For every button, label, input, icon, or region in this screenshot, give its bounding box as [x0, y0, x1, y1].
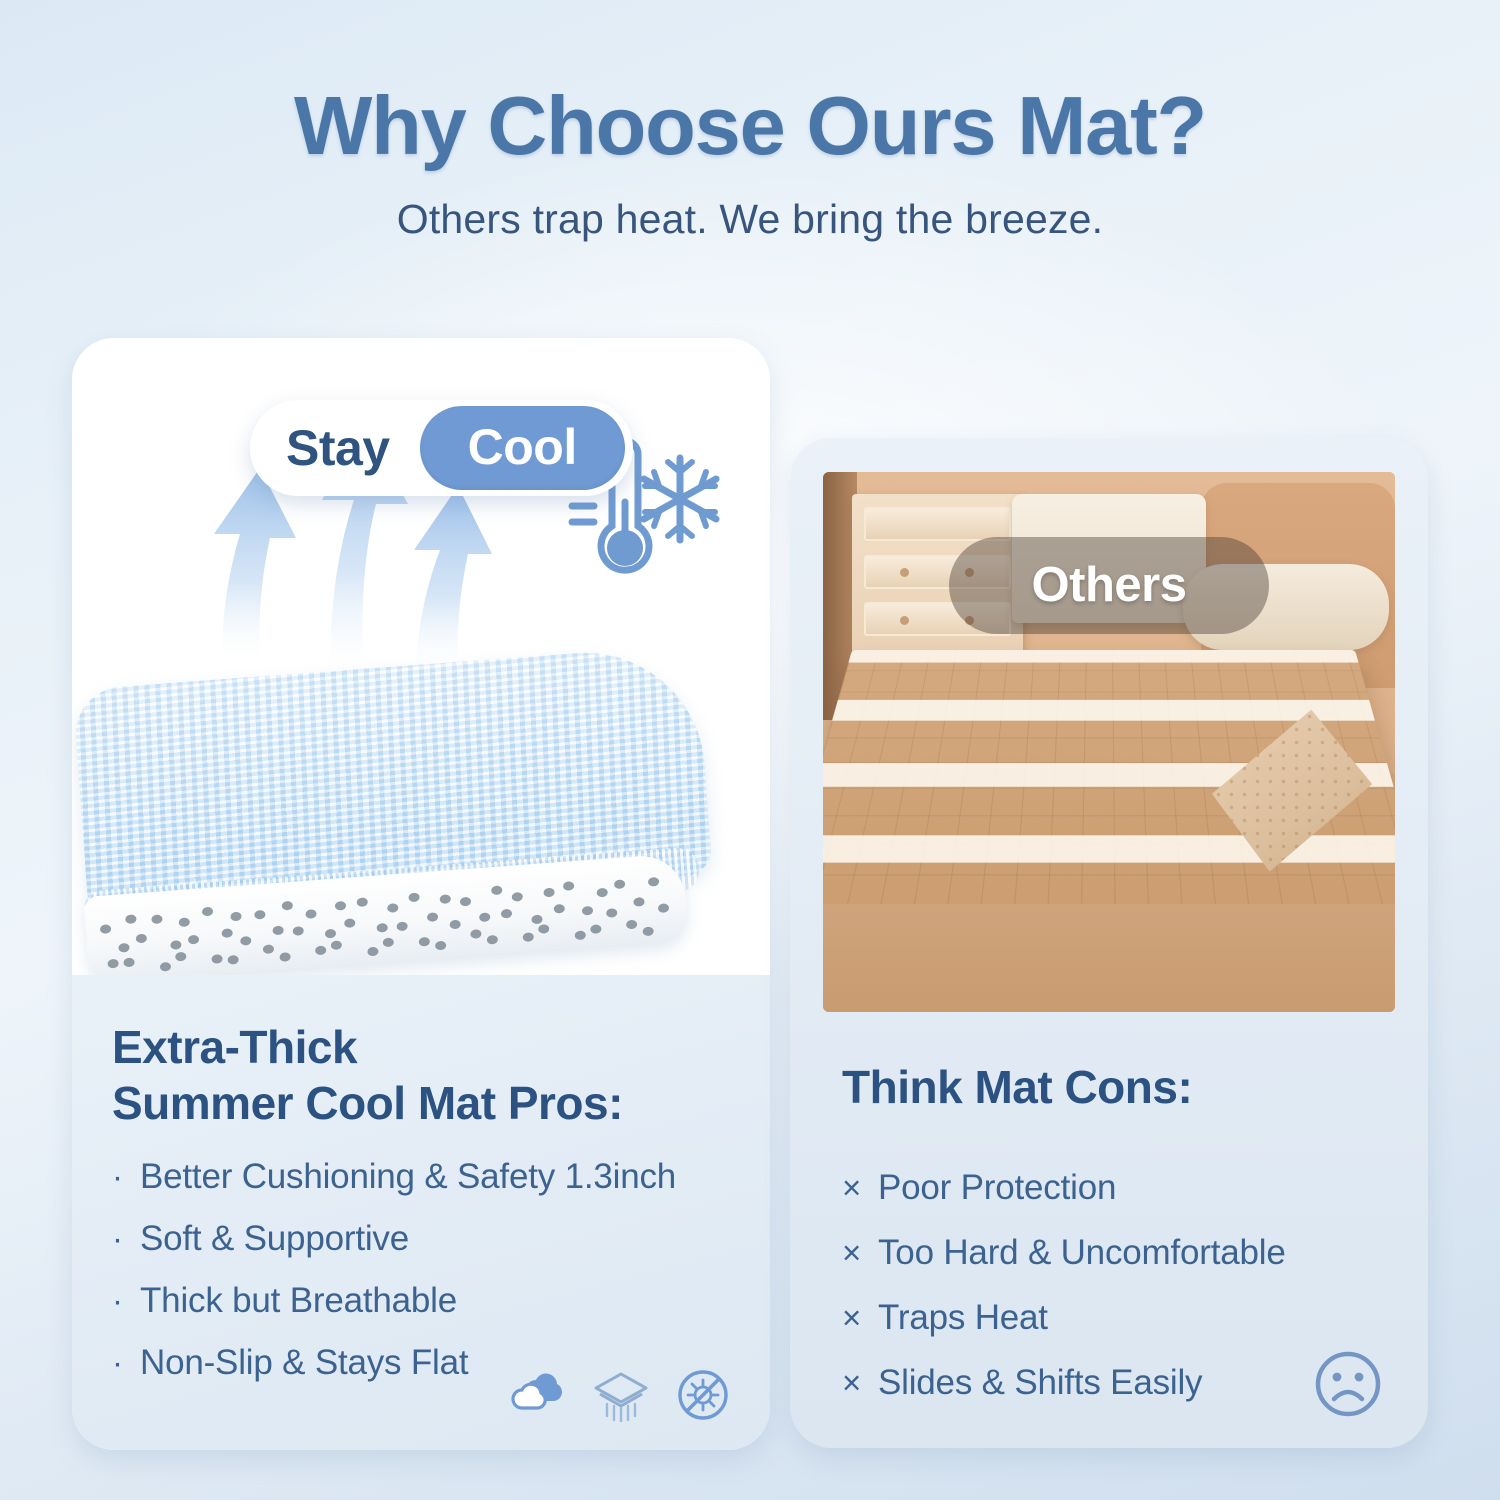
cons-label: Traps Heat: [878, 1300, 1048, 1335]
page-subtitle: Others trap heat. We bring the breeze.: [0, 196, 1500, 243]
pros-title: Extra-Thick Summer Cool Mat Pros:: [112, 1019, 770, 1131]
pros-marker-icon: ·: [112, 1346, 140, 1379]
breathable-layers-icon: [592, 1370, 650, 1422]
pros-item: ·Better Cushioning & Safety 1.3inch: [112, 1159, 770, 1194]
others-badge: Others: [949, 537, 1269, 634]
pros-list: ·Better Cushioning & Safety 1.3inch·Soft…: [112, 1159, 770, 1380]
soft-cloud-icon: [510, 1370, 566, 1422]
pros-label: Soft & Supportive: [140, 1221, 409, 1256]
pros-label: Thick but Breathable: [140, 1283, 457, 1318]
cons-marker-icon: ×: [842, 1301, 878, 1334]
cons-marker-icon: ×: [842, 1171, 878, 1204]
page-title: Why Choose Ours Mat?: [0, 78, 1500, 174]
cons-label: Slides & Shifts Easily: [878, 1365, 1202, 1400]
pros-label: Non-Slip & Stays Flat: [140, 1345, 468, 1380]
pros-title-line-1: Extra-Thick: [112, 1019, 770, 1075]
ours-product-photo: Stay Cool: [72, 338, 770, 975]
others-label: Others: [1032, 557, 1187, 613]
others-product-photo: Others: [823, 472, 1395, 1012]
anti-bacterial-icon: [676, 1368, 730, 1422]
ours-comparison-card: Stay Cool Extra-Thick Summer Cool Mat Pr…: [72, 338, 770, 1450]
cons-item: ×Too Hard & Uncomfortable: [842, 1235, 1428, 1270]
cons-title: Think Mat Cons:: [842, 1060, 1428, 1114]
cons-item: ×Traps Heat: [842, 1300, 1428, 1335]
pros-item: ·Soft & Supportive: [112, 1221, 770, 1256]
cool-label: Cool: [420, 406, 625, 490]
pros-marker-icon: ·: [112, 1222, 140, 1255]
stay-label: Stay: [260, 411, 420, 485]
pros-panel: Extra-Thick Summer Cool Mat Pros: ·Bette…: [72, 975, 770, 1450]
sad-face-icon: [1312, 1348, 1384, 1420]
drawer-knob: [900, 616, 909, 625]
cons-label: Too Hard & Uncomfortable: [878, 1235, 1286, 1270]
cons-marker-icon: ×: [842, 1236, 878, 1269]
pros-marker-icon: ·: [112, 1160, 140, 1193]
feature-icon-row: [510, 1368, 730, 1422]
stay-cool-badge: Stay Cool: [250, 400, 633, 496]
mattress-base: [823, 904, 1395, 1012]
pros-item: ·Thick but Breathable: [112, 1283, 770, 1318]
pros-marker-icon: ·: [112, 1284, 140, 1317]
cons-marker-icon: ×: [842, 1366, 878, 1399]
bedroom-scene: Others: [823, 472, 1395, 1012]
pros-title-line-2: Summer Cool Mat Pros:: [112, 1075, 770, 1131]
cons-panel: Think Mat Cons: ×Poor Protection×Too Har…: [790, 1012, 1428, 1400]
header: Why Choose Ours Mat? Others trap heat. W…: [0, 0, 1500, 243]
dresser-drawer: [864, 507, 1012, 541]
pros-label: Better Cushioning & Safety 1.3inch: [140, 1159, 676, 1194]
cons-item: ×Poor Protection: [842, 1170, 1428, 1205]
cons-label: Poor Protection: [878, 1170, 1116, 1205]
others-comparison-card: Others Think Mat Cons: ×Poor Protection×…: [790, 438, 1428, 1448]
